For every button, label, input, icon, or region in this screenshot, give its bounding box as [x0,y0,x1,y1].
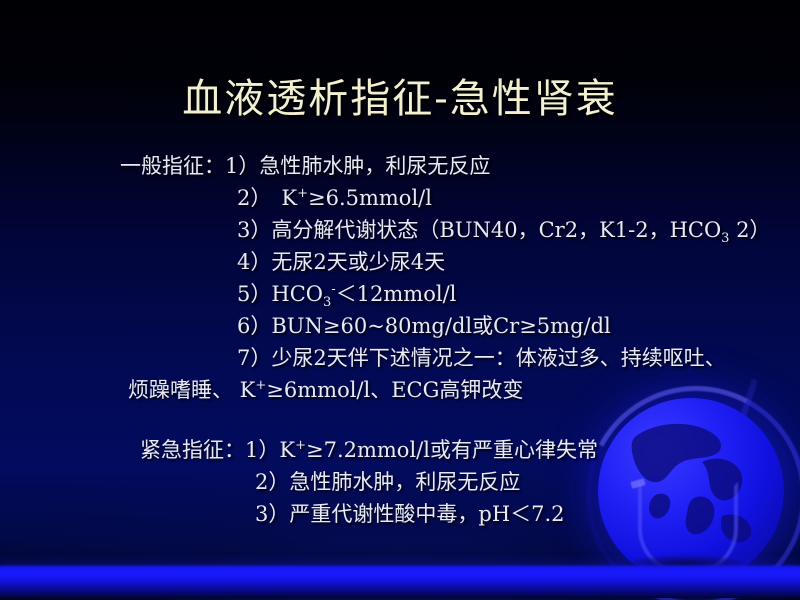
general-line-4: 4）无尿2天或少尿4天 [0,246,800,278]
general-item-6-marker: 6） [237,314,271,338]
emergency-item-3-marker: 3） [255,502,289,526]
general-line-2: 2）K+≥6.5mmol/l [0,182,800,214]
general-item-7-text: 少尿2天伴下述情况之一：体液过多、持续呕吐、 [271,346,725,370]
general-item-2-superscript: + [297,186,308,201]
bottom-accent-band [0,564,800,598]
general-item-5-suffix: ＜12mmol/l [336,282,457,306]
general-item-3-marker: 3） [237,218,271,242]
general-line-3: 3）高分解代谢状态（BUN40，Cr2，K1-2，HCO3 2） [0,214,800,246]
emergency-item-3-text: 严重代谢性酸中毒，pH＜7.2 [289,502,564,526]
emergency-item-1-prefix: K [279,438,295,462]
general-item-5-marker: 5） [237,282,271,306]
general-item-2-suffix: ≥6.5mmol/l [308,186,432,210]
slide-title: 血液透析指征-急性肾衰 [0,66,800,124]
continuation-prefix: 烦躁嗜睡、 K [128,378,255,402]
general-item-3-prefix: 高分解代谢状态（BUN40，Cr2，K1-2，HCO [271,218,721,242]
slide-body: 一般指征：1）急性肺水肿，利尿无反应 2）K+≥6.5mmol/l 3）高分解代… [0,150,800,530]
emergency-line-3: 3）严重代谢性酸中毒，pH＜7.2 [0,498,800,530]
emergency-item-2-marker: 2） [255,470,289,494]
general-item-3-suffix: 2） [729,218,770,242]
general-line-6: 6）BUN≥60~80mg/dl或Cr≥5mg/dl [0,310,800,342]
general-item-1-marker: 1） [225,154,259,178]
emergency-item-1-suffix: ≥7.2mmol/l或有严重心律失常 [306,438,598,462]
general-item-7-marker: 7） [237,346,271,370]
emergency-item-2-text: 急性肺水肿，利尿无反应 [289,470,520,494]
general-item-1-text: 急性肺水肿，利尿无反应 [259,154,490,178]
continuation-superscript: + [255,378,266,393]
continuation-suffix: ≥6mmol/l、ECG高钾改变 [266,378,523,402]
section-gap [0,406,800,434]
general-item-5-prefix: HCO [271,282,323,306]
general-line-7-continuation: 烦躁嗜睡、 K+≥6mmol/l、ECG高钾改变 [0,374,800,406]
presentation-slide: 血液透析指征-急性肾衰 一般指征：1）急性肺水肿，利尿无反应 2）K+≥6.5m… [0,0,800,600]
emergency-item-1-superscript: + [295,438,306,453]
emergency-heading: 紧急指征： [140,438,245,462]
emergency-line-1: 紧急指征：1）K+≥7.2mmol/l或有严重心律失常 [0,434,800,466]
emergency-item-1-marker: 1） [245,438,279,462]
general-line-1: 一般指征：1）急性肺水肿，利尿无反应 [0,150,800,182]
general-heading: 一般指征： [120,154,225,178]
general-item-4-text: 无尿2天或少尿4天 [271,250,445,274]
emergency-line-2: 2）急性肺水肿，利尿无反应 [0,466,800,498]
general-item-6-text: BUN≥60~80mg/dl或Cr≥5mg/dl [271,314,610,338]
general-line-7: 7）少尿2天伴下述情况之一：体液过多、持续呕吐、 [0,342,800,374]
globe-base-shadow [625,556,745,572]
general-item-4-marker: 4） [237,250,271,274]
general-line-5: 5）HCO3-＜12mmol/l [0,278,800,310]
general-item-2-marker: 2） [237,186,271,210]
general-item-5-subscript: 3 [323,295,331,310]
general-item-2-prefix: K [281,186,297,210]
bottom-band-glow [0,556,800,576]
